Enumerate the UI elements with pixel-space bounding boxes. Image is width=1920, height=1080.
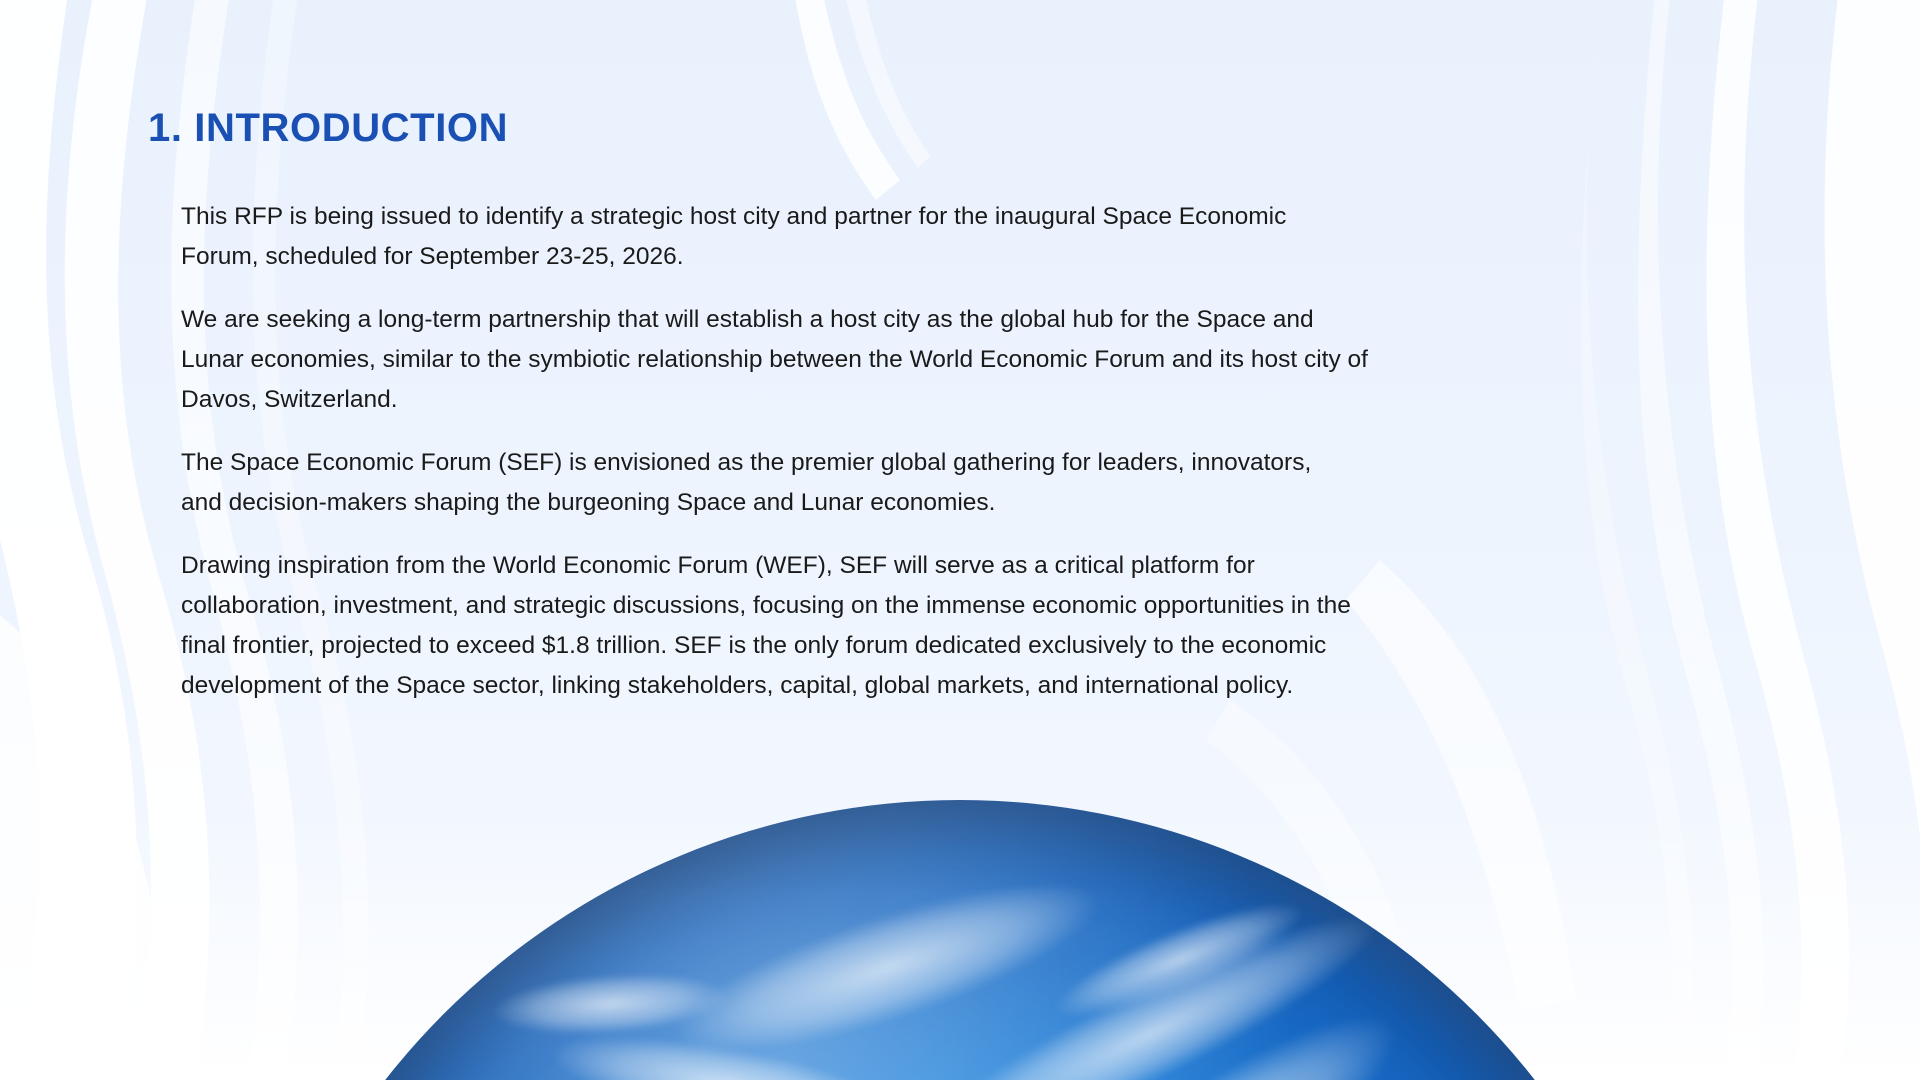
paragraph-2: We are seeking a long-term partnership t…: [181, 300, 1377, 420]
paragraph-4: Drawing inspiration from the World Econo…: [181, 546, 1399, 706]
slide-canvas: 1. INTRODUCTION This RFP is being issued…: [0, 0, 1920, 1080]
paragraph-3: The Space Economic Forum (SEF) is envisi…: [181, 443, 1341, 523]
page-title: 1. INTRODUCTION: [148, 106, 508, 151]
earth-rim-light: [230, 800, 1690, 1080]
body-text-block: This RFP is being issued to identify a s…: [181, 197, 1401, 706]
paragraph-1: This RFP is being issued to identify a s…: [181, 197, 1329, 277]
earth-image: [230, 800, 1690, 1080]
